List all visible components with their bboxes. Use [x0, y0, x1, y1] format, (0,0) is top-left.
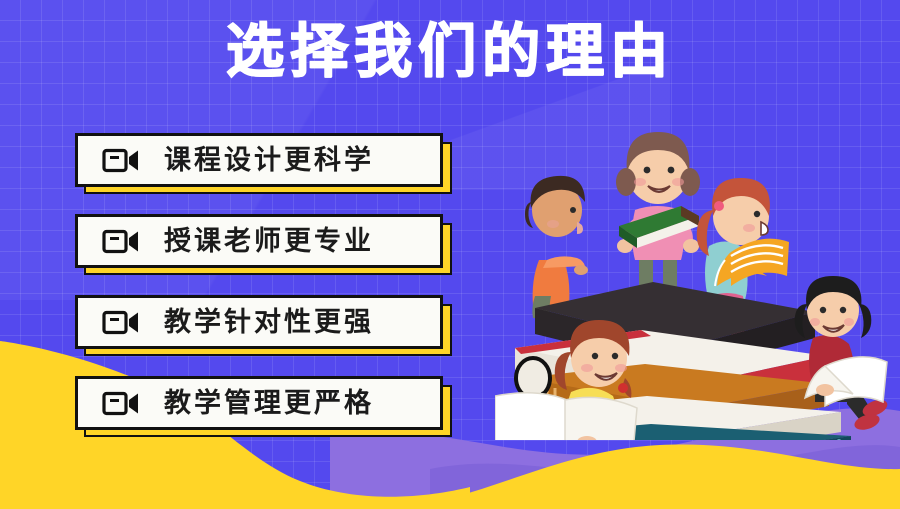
feature-label: 授课老师更专业 — [164, 226, 374, 256]
feature-item-2[interactable]: 授课老师更专业 — [75, 214, 455, 268]
feature-item-3[interactable]: 教学针对性更强 — [75, 295, 455, 349]
feature-card[interactable]: 授课老师更专业 — [75, 214, 443, 268]
video-camera-icon — [102, 390, 142, 417]
page-title: 选择我们的理由 — [0, 16, 900, 88]
open-notebook — [495, 393, 637, 440]
video-camera-icon — [102, 147, 142, 174]
feature-card[interactable]: 教学针对性更强 — [75, 295, 443, 349]
feature-label: 教学管理更严格 — [164, 388, 374, 418]
feature-list: 课程设计更科学 授课老师更专业 — [75, 133, 455, 457]
feature-card[interactable]: 课程设计更科学 — [75, 133, 443, 187]
feature-item-1[interactable]: 课程设计更科学 — [75, 133, 455, 187]
feature-card[interactable]: 教学管理更严格 — [75, 376, 443, 430]
children-reading-illustration — [495, 110, 900, 440]
video-camera-icon — [102, 228, 142, 255]
feature-label: 教学针对性更强 — [164, 307, 374, 337]
video-camera-icon — [102, 309, 142, 336]
poster-canvas: 选择我们的理由 课程设计更科学 — [0, 0, 900, 509]
feature-label: 课程设计更科学 — [164, 145, 374, 175]
feature-item-4[interactable]: 教学管理更严格 — [75, 376, 455, 430]
boy-orange-shirt — [525, 176, 588, 318]
